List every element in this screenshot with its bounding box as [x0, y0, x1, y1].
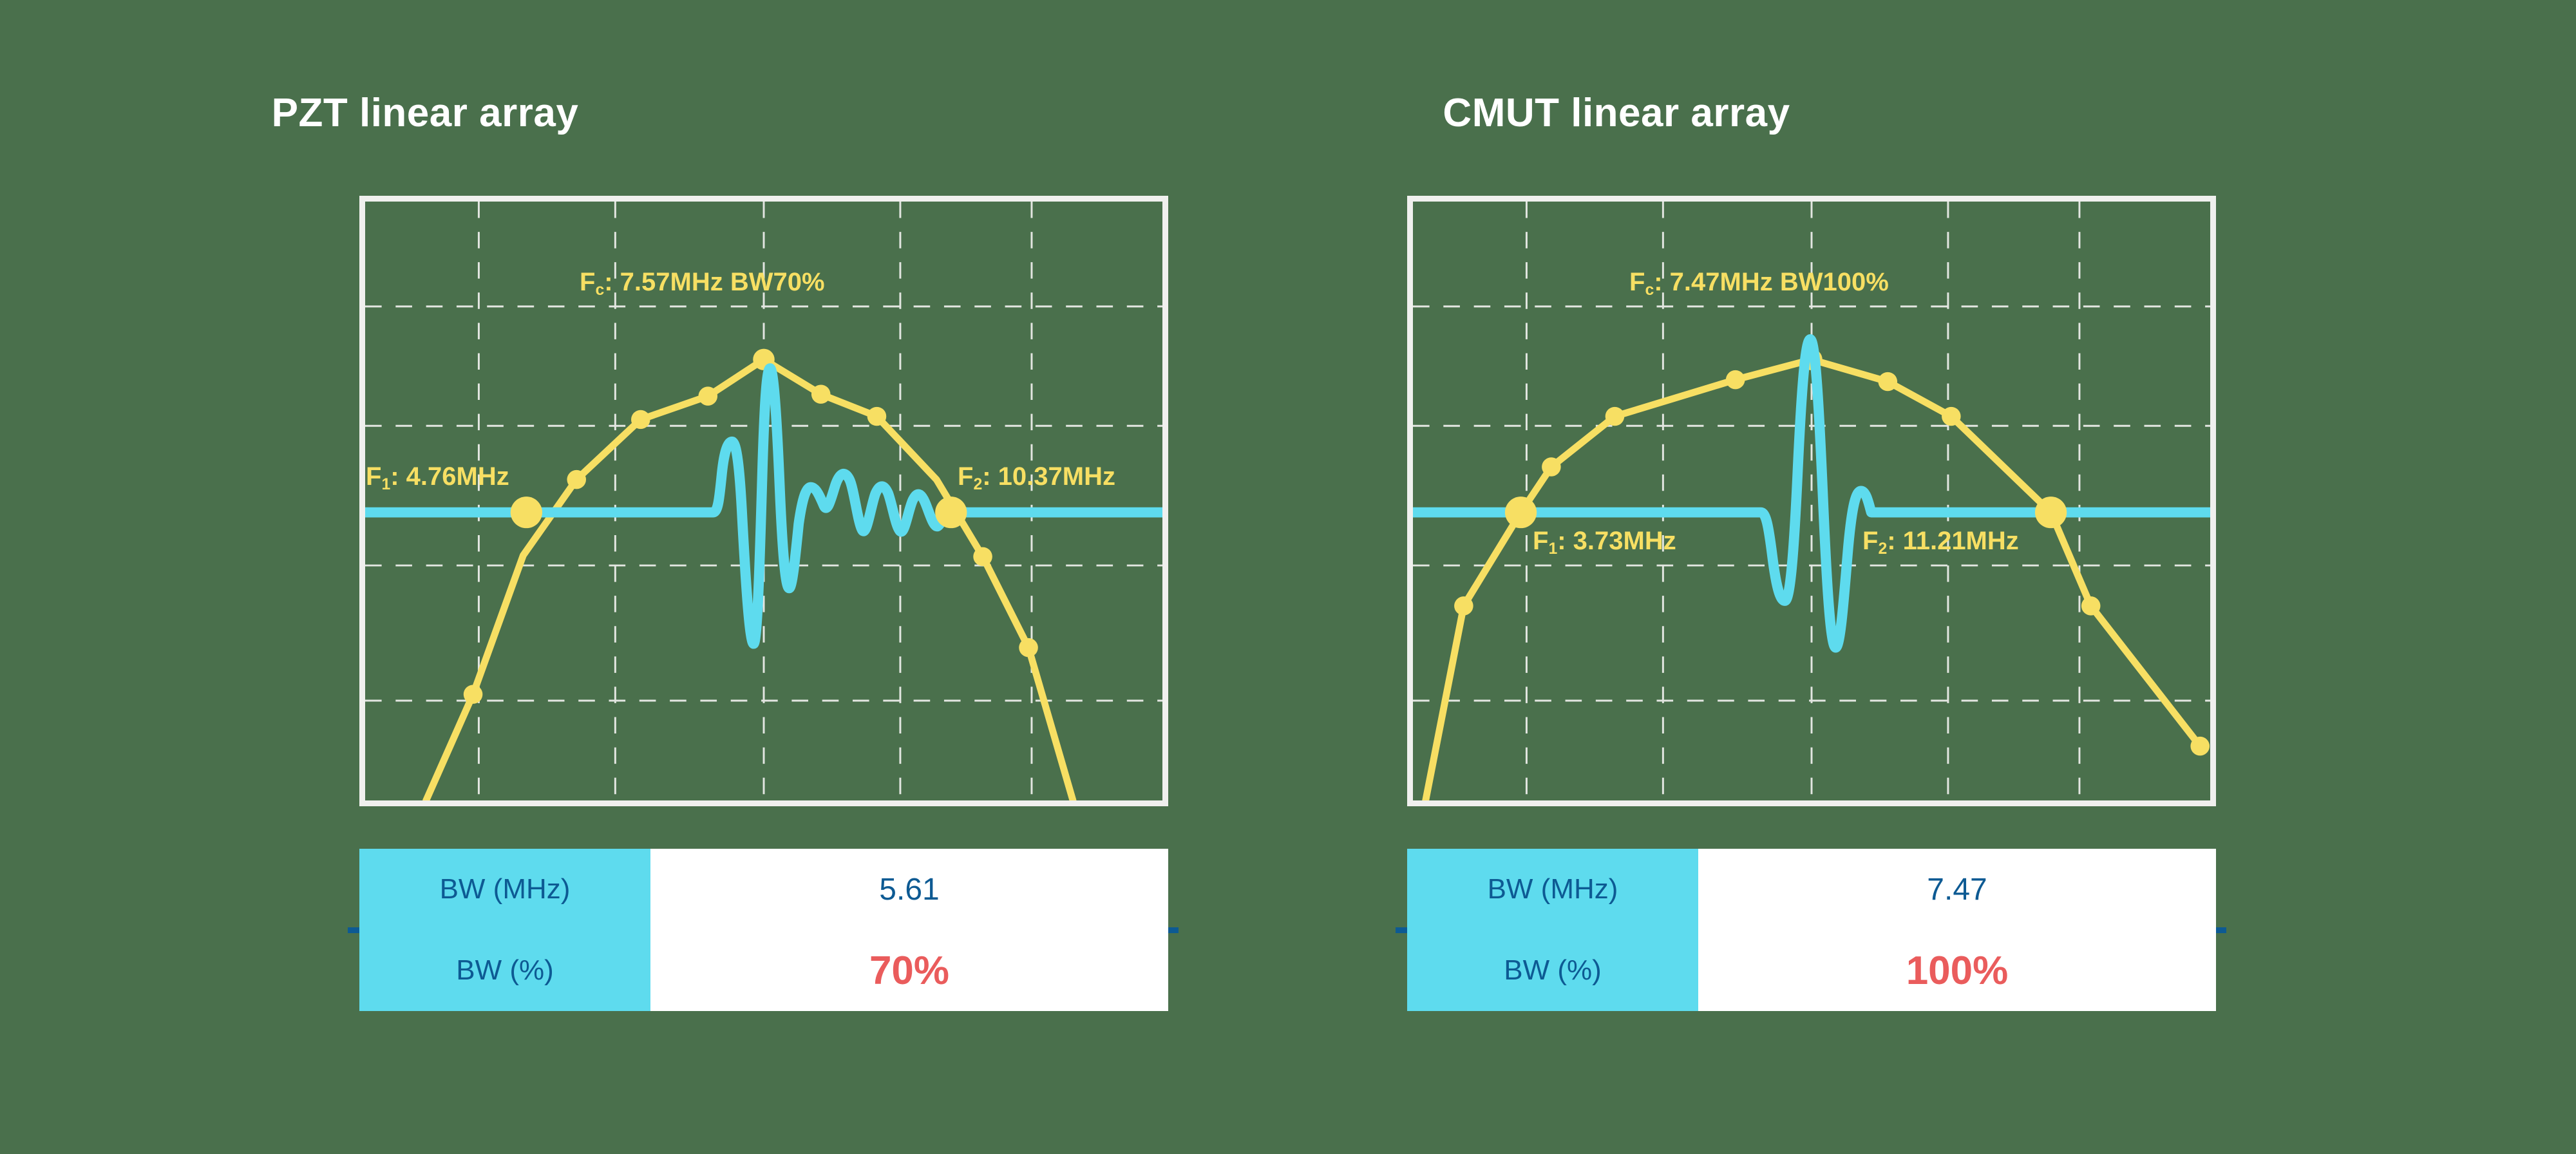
fc-subscript-pzt: c: [595, 281, 604, 299]
f2-text-cmut: : 11.21MHz: [1887, 527, 2019, 555]
f2-subscript-cmut: 2: [1878, 540, 1887, 558]
fc-subscript-cmut: c: [1645, 281, 1654, 299]
f2-prefix-cmut: F: [1862, 527, 1878, 555]
fc-text-cmut: : 7.47MHz BW100%: [1654, 268, 1889, 296]
f1-point-pzt: [511, 497, 542, 528]
panel-title-pzt: PZT linear array: [0, 90, 1005, 136]
table-row-value-bw-mhz-cmut: 7.47: [1698, 849, 2216, 930]
annotation-f1-cmut: F1: 3.73MHz: [1533, 528, 1676, 554]
table-row-label-bw-mhz-cmut: BW (MHz): [1407, 849, 1698, 930]
table-row-label-bw-percent-pzt: BW (%): [359, 930, 650, 1011]
fc-text-pzt: : 7.57MHz BW70%: [604, 268, 824, 296]
f1-subscript-pzt: 1: [381, 476, 390, 493]
table-row-value-bw-percent-cmut: 100%: [1698, 930, 2216, 1011]
panel-pzt: PZT linear array: [0, 0, 1159, 1154]
panel-title-cmut: CMUT linear array: [1037, 90, 2196, 136]
annotation-f2-cmut: F2: 11.21MHz: [1862, 528, 2019, 554]
f1-prefix-cmut: F: [1533, 527, 1548, 555]
f1-point-cmut: [1505, 497, 1537, 528]
fc-prefix-cmut: F: [1629, 268, 1645, 296]
annotation-center-frequency-pzt: Fc: 7.57MHz BW70%: [580, 269, 825, 295]
bw-table-cmut: BW (MHz) 7.47 BW (%) 100%: [1407, 849, 2216, 1011]
f1-text-cmut: : 3.73MHz: [1557, 527, 1676, 555]
f2-prefix-pzt: F: [958, 462, 973, 491]
fc-prefix-pzt: F: [580, 268, 595, 296]
annotation-f1-pzt: F1: 4.76MHz: [366, 464, 509, 489]
f1-subscript-cmut: 1: [1548, 540, 1557, 558]
table-row-label-bw-mhz-pzt: BW (MHz): [359, 849, 650, 930]
f2-subscript-pzt: 2: [973, 476, 982, 493]
panel-cmut: CMUT linear array: [1043, 0, 2202, 1154]
f1-text-pzt: : 4.76MHz: [390, 462, 509, 491]
figure-canvas: PZT linear array: [0, 0, 2576, 1154]
annotation-center-frequency-cmut: Fc: 7.47MHz BW100%: [1629, 269, 1889, 295]
f2-point-cmut: [2035, 497, 2067, 528]
f1-prefix-pzt: F: [366, 462, 381, 491]
table-row-label-bw-percent-cmut: BW (%): [1407, 930, 1698, 1011]
f2-point-pzt: [935, 497, 967, 528]
